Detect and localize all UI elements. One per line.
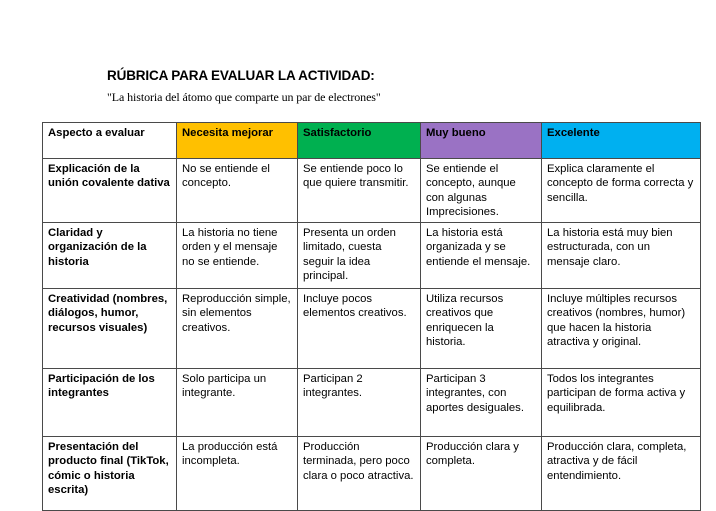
column-header-aspecto-a-evaluar: Aspecto a evaluar	[43, 123, 177, 159]
table-row: Participación de los integrantes Solo pa…	[43, 369, 701, 437]
table-row: Explicación de la unión covalente dativa…	[43, 159, 701, 223]
column-header-satisfactorio: Satisfactorio	[298, 123, 421, 159]
level-cell-muy-bueno: La historia está organizada y se entiend…	[421, 223, 542, 289]
document-page: RÚBRICA PARA EVALUAR LA ACTIVIDAD: "La h…	[0, 0, 716, 478]
page-title: RÚBRICA PARA EVALUAR LA ACTIVIDAD:	[107, 68, 375, 83]
header-row: Aspecto a evaluar Necesita mejorar Satis…	[43, 123, 701, 159]
column-header-excelente: Excelente	[542, 123, 701, 159]
level-cell-muy-bueno: Utiliza recursos creativos que enriquece…	[421, 289, 542, 369]
level-cell-excelente: Todos los integrantes participan de form…	[542, 369, 701, 437]
table-row: Claridad y organización de la historia L…	[43, 223, 701, 289]
rubric-table-container: Aspecto a evaluar Necesita mejorar Satis…	[42, 122, 700, 511]
level-cell-satisfactorio: Producción terminada, pero poco clara o …	[298, 437, 421, 511]
level-cell-satisfactorio: Se entiende poco lo que quiere transmiti…	[298, 159, 421, 223]
table-row: Creatividad (nombres, diálogos, humor, r…	[43, 289, 701, 369]
level-cell-satisfactorio: Presenta un orden limitado, cuesta segui…	[298, 223, 421, 289]
level-cell-excelente: Producción clara, completa, atractiva y …	[542, 437, 701, 511]
level-cell-muy-bueno: Participan 3 integrantes, con aportes de…	[421, 369, 542, 437]
criterion-cell: Explicación de la unión covalente dativa	[43, 159, 177, 223]
level-cell-satisfactorio: Participan 2 integrantes.	[298, 369, 421, 437]
column-header-muy-bueno: Muy bueno	[421, 123, 542, 159]
level-cell-excelente: Incluye múltiples recursos creativos (no…	[542, 289, 701, 369]
column-header-necesita-mejorar: Necesita mejorar	[177, 123, 298, 159]
level-cell-muy-bueno: Se entiende el concepto, aunque con algu…	[421, 159, 542, 223]
level-cell-necesita-mejorar: Solo participa un integrante.	[177, 369, 298, 437]
table-row: Presentación del producto final (TikTok,…	[43, 437, 701, 511]
criterion-cell: Claridad y organización de la historia	[43, 223, 177, 289]
criterion-cell: Presentación del producto final (TikTok,…	[43, 437, 177, 511]
level-cell-excelente: Explica claramente el concepto de forma …	[542, 159, 701, 223]
level-cell-muy-bueno: Producción clara y completa.	[421, 437, 542, 511]
table-body: Explicación de la unión covalente dativa…	[43, 159, 701, 511]
level-cell-satisfactorio: Incluye pocos elementos creativos.	[298, 289, 421, 369]
rubric-table: Aspecto a evaluar Necesita mejorar Satis…	[42, 122, 701, 511]
level-cell-excelente: La historia está muy bien estructurada, …	[542, 223, 701, 289]
level-cell-necesita-mejorar: No se entiende el concepto.	[177, 159, 298, 223]
level-cell-necesita-mejorar: Reproducción simple, sin elementos creat…	[177, 289, 298, 369]
table-header: Aspecto a evaluar Necesita mejorar Satis…	[43, 123, 701, 159]
criterion-cell: Participación de los integrantes	[43, 369, 177, 437]
level-cell-necesita-mejorar: La historia no tiene orden y el mensaje …	[177, 223, 298, 289]
criterion-cell: Creatividad (nombres, diálogos, humor, r…	[43, 289, 177, 369]
level-cell-necesita-mejorar: La producción está incompleta.	[177, 437, 298, 511]
page-subtitle: "La historia del átomo que comparte un p…	[107, 90, 381, 105]
